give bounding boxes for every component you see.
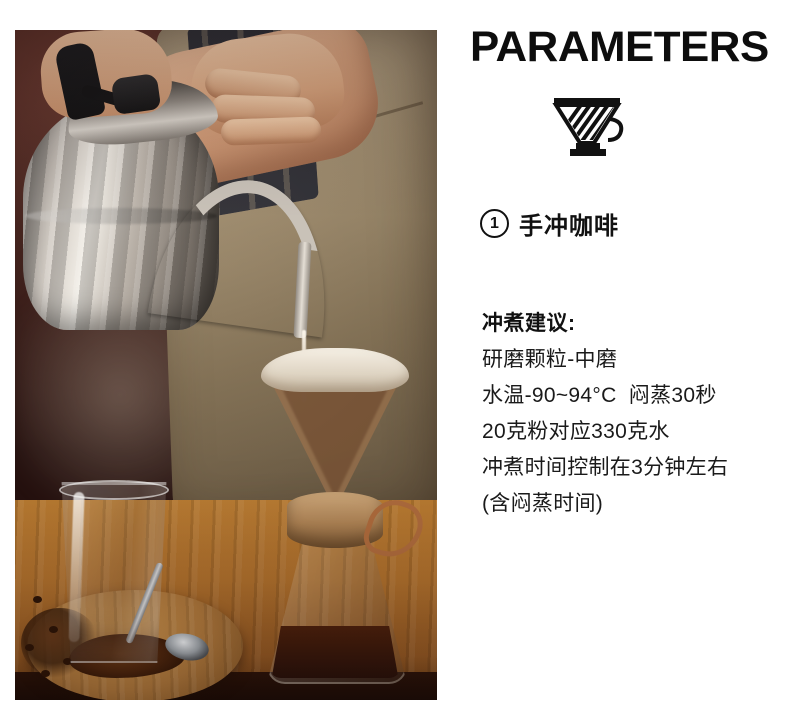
pour-over-dripper-icon <box>548 92 626 164</box>
spec-line-temp: 水温-90~94°C 闷蒸30秒 <box>482 378 782 414</box>
item-label: 手冲咖啡 <box>519 206 619 241</box>
coffee-bean <box>49 626 58 633</box>
finger <box>221 116 322 145</box>
coffee-brewing-photo <box>15 30 437 700</box>
parameters-panel: PARAMETERS <box>470 0 782 717</box>
spec-line-time-note: (含闷蒸时间) <box>482 486 782 522</box>
specs-heading: 冲煮建议: <box>482 306 782 342</box>
paper-filter <box>261 348 409 392</box>
item-number-badge: 1 <box>480 209 509 238</box>
spec-line-time: 冲煮时间控制在3分钟左右 <box>482 450 782 486</box>
kettle-lid-knob <box>111 73 162 115</box>
coffee-bean <box>33 596 42 603</box>
page-title: PARAMETERS <box>470 24 769 70</box>
glass-rim <box>59 480 169 500</box>
spec-line-ratio: 20克粉对应330克水 <box>482 414 782 450</box>
photo-scene <box>15 30 437 700</box>
coffee-bean <box>25 644 34 651</box>
parameter-item-1: 1 手冲咖啡 <box>480 206 619 241</box>
product-detail-page: PARAMETERS <box>0 0 790 717</box>
coffee-bean <box>41 670 50 677</box>
brewed-coffee <box>269 626 401 678</box>
brewing-specs: 冲煮建议: 研磨颗粒-中磨 水温-90~94°C 闷蒸30秒 20克粉对应330… <box>482 306 782 522</box>
spec-line-grind: 研磨颗粒-中磨 <box>482 342 782 378</box>
